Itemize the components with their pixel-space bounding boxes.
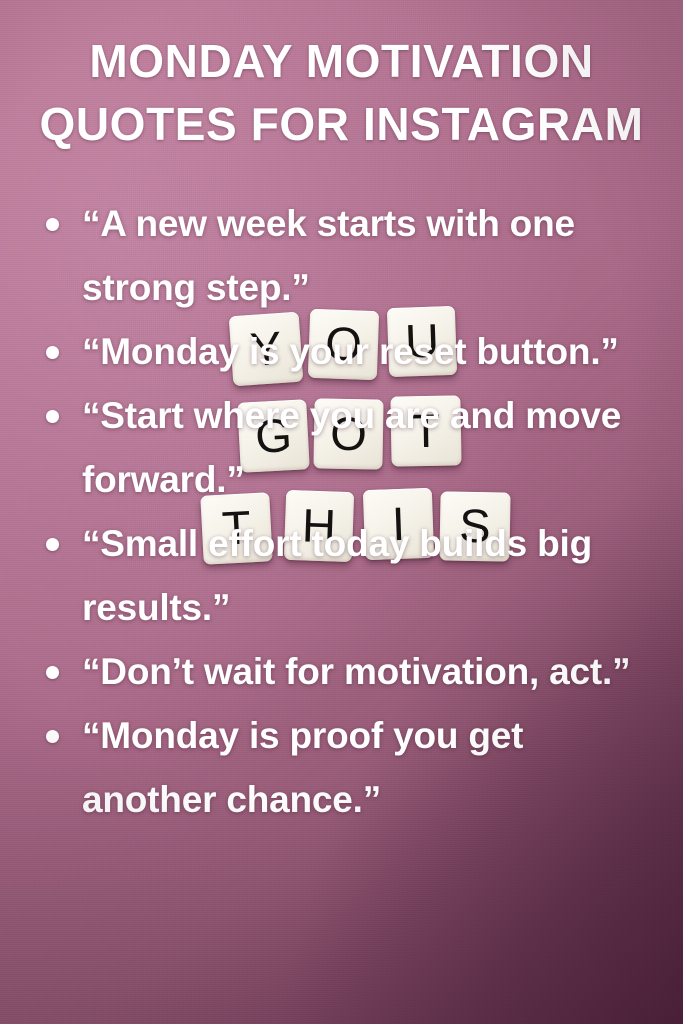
page-title-line-1: MONDAY MOTIVATION (14, 30, 669, 93)
quote-list-item: “Start where you are and move forward.” (38, 384, 663, 512)
bullet-dot-icon (46, 410, 59, 423)
bullet-dot-icon (46, 730, 59, 743)
page-title-line-2: QUOTES FOR INSTAGRAM (14, 93, 669, 156)
quote-text: “A new week starts with one strong step.… (82, 203, 575, 308)
bullet-dot-icon (46, 218, 59, 231)
bullet-dot-icon (46, 666, 59, 679)
quote-list-item: “Monday is proof you get another chance.… (38, 704, 663, 832)
page-title: MONDAY MOTIVATION QUOTES FOR INSTAGRAM (14, 30, 669, 155)
text-overlay: MONDAY MOTIVATION QUOTES FOR INSTAGRAM “… (0, 0, 683, 1024)
quote-text: “Start where you are and move forward.” (82, 395, 621, 500)
quote-list-item: “Don’t wait for motivation, act.” (38, 640, 663, 704)
quote-list-item: “A new week starts with one strong step.… (38, 192, 663, 320)
quote-list-item: “Small effort today builds big results.” (38, 512, 663, 640)
quote-list: “A new week starts with one strong step.… (38, 192, 663, 832)
bullet-dot-icon (46, 346, 59, 359)
quote-text: “Don’t wait for motivation, act.” (82, 651, 630, 692)
bullet-dot-icon (46, 538, 59, 551)
quote-text: “Small effort today builds big results.” (82, 523, 592, 628)
quote-text: “Monday is your reset button.” (82, 331, 619, 372)
poster-canvas: YOUGOTTHIS MONDAY MOTIVATION QUOTES FOR … (0, 0, 683, 1024)
quote-text: “Monday is proof you get another chance.… (82, 715, 523, 820)
quote-list-item: “Monday is your reset button.” (38, 320, 663, 384)
